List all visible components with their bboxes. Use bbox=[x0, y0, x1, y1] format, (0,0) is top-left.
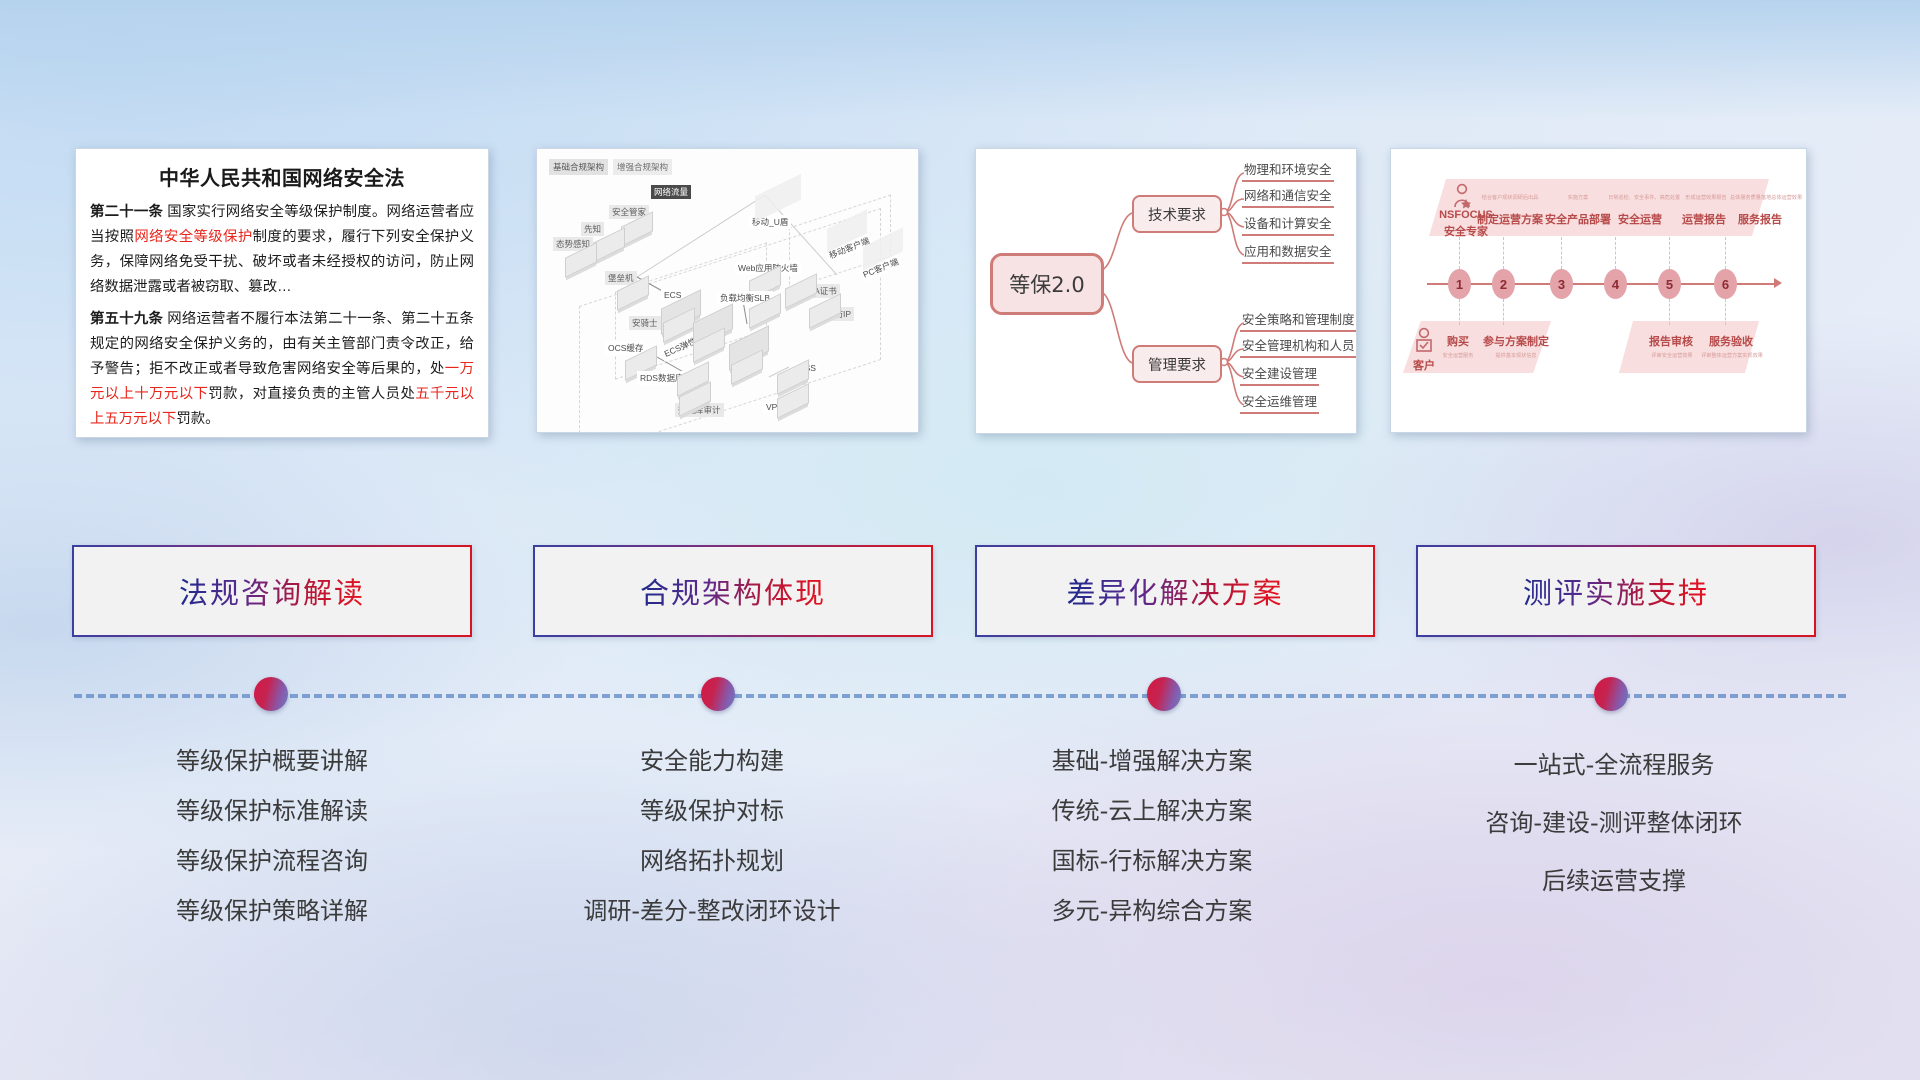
law-article-59-text-3: 罚款。 bbox=[176, 411, 219, 427]
list-item: 等级保护策略详解 bbox=[60, 886, 484, 936]
list-item: 一站式-全流程服务 bbox=[1382, 736, 1846, 794]
nsfocus-top-sub-4: 日常巡检、安全事件、高危处置 bbox=[1608, 193, 1680, 200]
nsfocus-bottom-sub-6: 评审整体运营方案实现效果 bbox=[1700, 351, 1764, 358]
section-title-box-solution[interactable]: 差异化解决方案 bbox=[975, 545, 1375, 637]
nsfocus-connector-4 bbox=[1615, 237, 1617, 269]
nsfocus-connector-5b bbox=[1669, 299, 1671, 325]
nsfocus-bottom-title-2: 参与方案制定 bbox=[1481, 333, 1551, 349]
list-item: 国标-行标解决方案 bbox=[940, 836, 1364, 886]
nsfocus-step-number-1: 1 bbox=[1448, 269, 1471, 299]
section-title-text-solution: 差异化解决方案 bbox=[1066, 570, 1283, 612]
customer-person-icon bbox=[1413, 327, 1435, 359]
list-item: 调研-差分-整改闭环设计 bbox=[500, 886, 924, 936]
nsfocus-top-title-6: 服务报告 bbox=[1729, 211, 1791, 227]
card-nsfocus-timeline[interactable]: NSFOCUS 安全专家 客户 结合客户现状调研后出具 制定运营方案 实施方案 … bbox=[1390, 148, 1807, 433]
nsfocus-top-title-4: 安全运营 bbox=[1609, 211, 1671, 227]
architecture-node-xianzhi: 先知 bbox=[581, 222, 604, 236]
mindmap-root-node: 等保2.0 bbox=[990, 253, 1104, 315]
mindmap-leaf-device-compute: 设备和计算安全 bbox=[1242, 213, 1334, 236]
law-article-21-label: 第二十一条 bbox=[90, 204, 163, 220]
list-item: 等级保护对标 bbox=[500, 786, 924, 836]
nsfocus-connector-2 bbox=[1503, 237, 1505, 269]
nsfocus-connector-1b bbox=[1459, 299, 1461, 325]
nsfocus-customer-label: 客户 bbox=[1409, 357, 1439, 373]
mindmap-branch-management: 管理要求 bbox=[1132, 345, 1222, 383]
timeline-dot-4[interactable] bbox=[1594, 677, 1628, 711]
law-title: 中华人民共和国网络安全法 bbox=[76, 162, 488, 191]
nsfocus-top-sub-3: 实施方案 bbox=[1549, 193, 1606, 200]
timeline bbox=[0, 668, 1920, 728]
list-item: 多元-异构综合方案 bbox=[940, 886, 1364, 936]
architecture-node-traffic: 网络流量 bbox=[651, 185, 691, 199]
architecture-node-anqishi: 安骑士 bbox=[629, 316, 661, 330]
section-title-text-architecture: 合规架构体现 bbox=[640, 570, 826, 612]
nsfocus-canvas: NSFOCUS 安全专家 客户 结合客户现状调研后出具 制定运营方案 实施方案 … bbox=[1391, 149, 1806, 432]
timeline-dashed-line bbox=[74, 694, 1846, 698]
nsfocus-top-title-5: 运营报告 bbox=[1673, 211, 1735, 227]
nsfocus-connector-6b bbox=[1725, 299, 1727, 325]
section-title-text-regulation: 法规咨询解读 bbox=[179, 570, 365, 612]
mindmap-leaf-build-mgmt: 安全建设管理 bbox=[1240, 363, 1319, 386]
mindmap-canvas: 等保2.0 技术要求 管理要求 物理和环境安全 网络和通信安全 设备和计算安全 … bbox=[976, 149, 1356, 433]
timeline-dot-2[interactable] bbox=[701, 677, 735, 711]
section-title-box-architecture[interactable]: 合规架构体现 bbox=[533, 545, 933, 637]
nsfocus-top-sub-2: 结合客户现状调研后出具 bbox=[1480, 193, 1541, 200]
timeline-dot-3[interactable] bbox=[1147, 677, 1181, 711]
nsfocus-top-sub-5: 形成运营效果报告 bbox=[1674, 193, 1738, 200]
detail-column-architecture: 安全能力构建 等级保护对标 网络拓扑规划 调研-差分-整改闭环设计 bbox=[500, 736, 924, 936]
law-article-59: 第五十九条 网络运营者不履行本法第二十一条、第二十五条规定的网络安全保护义务的，… bbox=[90, 307, 474, 432]
mindmap-leaf-ops-mgmt: 安全运维管理 bbox=[1240, 391, 1319, 414]
list-item: 等级保护标准解读 bbox=[60, 786, 484, 836]
detail-columns: 等级保护概要讲解 等级保护标准解读 等级保护流程咨询 等级保护策略详解 安全能力… bbox=[0, 736, 1920, 956]
timeline-dot-1[interactable] bbox=[254, 677, 288, 711]
section-title-text-assessment: 测评实施支持 bbox=[1523, 570, 1709, 612]
list-item: 传统-云上解决方案 bbox=[940, 786, 1364, 836]
nsfocus-connector-1 bbox=[1459, 237, 1461, 269]
mindmap-leaf-physical-env: 物理和环境安全 bbox=[1242, 159, 1334, 182]
nsfocus-axis-arrow bbox=[1774, 278, 1782, 288]
law-article-59-text-2: 罚款，对直接负责的主管人员处 bbox=[208, 386, 415, 402]
list-item: 后续运营支撑 bbox=[1382, 852, 1846, 910]
nsfocus-connector-5 bbox=[1669, 237, 1671, 269]
detail-column-regulation: 等级保护概要讲解 等级保护标准解读 等级保护流程咨询 等级保护策略详解 bbox=[60, 736, 484, 936]
law-article-21-highlight: 网络安全等级保护 bbox=[134, 229, 252, 245]
nsfocus-bottom-sub-1: 安全运营服务 bbox=[1435, 351, 1481, 358]
cards-row: 中华人民共和国网络安全法 第二十一条 国家实行网络安全等级保护制度。网络运营者应… bbox=[0, 148, 1920, 444]
nsfocus-step-number-4: 4 bbox=[1604, 269, 1627, 299]
law-body: 第二十一条 国家实行网络安全等级保护制度。网络运营者应当按照网络安全等级保护制度… bbox=[76, 200, 488, 438]
detail-column-solution: 基础-增强解决方案 传统-云上解决方案 国标-行标解决方案 多元-异构综合方案 bbox=[940, 736, 1364, 936]
list-item: 等级保护流程咨询 bbox=[60, 836, 484, 886]
expert-person-glyph bbox=[1451, 183, 1473, 209]
nsfocus-step-number-6: 6 bbox=[1714, 269, 1737, 299]
nsfocus-connector-2b bbox=[1503, 299, 1505, 325]
mindmap-leaf-network-comm: 网络和通信安全 bbox=[1242, 185, 1334, 208]
nsfocus-bottom-title-6: 服务验收 bbox=[1703, 333, 1759, 349]
nsfocus-connector-3 bbox=[1561, 237, 1563, 269]
nsfocus-step-number-5: 5 bbox=[1658, 269, 1681, 299]
law-article-21: 第二十一条 国家实行网络安全等级保护制度。网络运营者应当按照网络安全等级保护制度… bbox=[90, 200, 474, 300]
list-item: 网络拓扑规划 bbox=[500, 836, 924, 886]
list-item: 等级保护概要讲解 bbox=[60, 736, 484, 786]
nsfocus-step-number-2: 2 bbox=[1492, 269, 1515, 299]
list-item: 咨询-建设-测评整体闭环 bbox=[1382, 794, 1846, 852]
card-mindmap[interactable]: 等保2.0 技术要求 管理要求 物理和环境安全 网络和通信安全 设备和计算安全 … bbox=[975, 148, 1357, 434]
nsfocus-bottom-sub-5: 评审安全运营效果 bbox=[1642, 351, 1703, 358]
list-item: 安全能力构建 bbox=[500, 736, 924, 786]
section-titles-row: 法规咨询解读 合规架构体现 差异化解决方案 测评实施支持 bbox=[0, 545, 1920, 637]
nsfocus-bottom-title-1: 购买 bbox=[1439, 333, 1477, 349]
nsfocus-top-title-2: 制定运营方案 bbox=[1477, 211, 1543, 227]
architecture-canvas: 基础合规架构 增强合规架构 网络流量 安全管家 先知 态势感知 bbox=[537, 149, 918, 432]
nsfocus-bottom-title-5: 报告审核 bbox=[1643, 333, 1699, 349]
mindmap-leaf-org-personnel: 安全管理机构和人员 bbox=[1240, 335, 1357, 358]
customer-person-glyph bbox=[1413, 327, 1435, 355]
nsfocus-bottom-sub-2: 提供基本现状信息 bbox=[1486, 351, 1547, 358]
list-item: 基础-增强解决方案 bbox=[940, 736, 1364, 786]
background-top-band bbox=[0, 0, 1920, 120]
nsfocus-top-title-3: 安全产品部署 bbox=[1543, 211, 1613, 227]
detail-column-assessment: 一站式-全流程服务 咨询-建设-测评整体闭环 后续运营支撑 bbox=[1382, 736, 1846, 910]
mindmap-leaf-policy-system: 安全策略和管理制度 bbox=[1240, 309, 1357, 332]
law-article-59-label: 第五十九条 bbox=[90, 311, 163, 327]
nsfocus-top-sub-6: 总体服务质量落地总体运营效果 bbox=[1730, 193, 1800, 200]
nsfocus-step-number-3: 3 bbox=[1550, 269, 1573, 299]
nsfocus-connector-6 bbox=[1725, 237, 1727, 269]
section-title-box-assessment[interactable]: 测评实施支持 bbox=[1416, 545, 1816, 637]
card-architecture-diagram[interactable]: 基础合规架构 增强合规架构 网络流量 安全管家 先知 态势感知 bbox=[536, 148, 919, 433]
mindmap-leaf-app-data: 应用和数据安全 bbox=[1242, 241, 1334, 264]
section-title-box-regulation[interactable]: 法规咨询解读 bbox=[72, 545, 472, 637]
mindmap-branch-technical: 技术要求 bbox=[1132, 195, 1222, 233]
card-law-text[interactable]: 中华人民共和国网络安全法 第二十一条 国家实行网络安全等级保护制度。网络运营者应… bbox=[75, 148, 489, 438]
